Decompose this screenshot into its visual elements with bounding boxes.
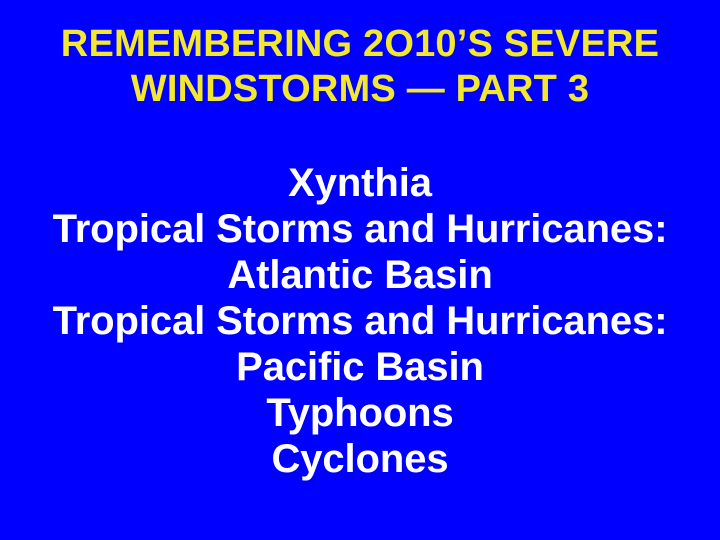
body-line-cyclones: Cyclones	[0, 436, 720, 482]
body-line-pacific-basin: Pacific Basin	[0, 344, 720, 390]
slide-canvas: REMEMBERING 2O10’S SEVERE WINDSTORMS — P…	[0, 0, 720, 540]
title-line-1: REMEMBERING 2O10’S SEVERE	[0, 22, 720, 67]
body-line-atlantic-basin: Atlantic Basin	[0, 252, 720, 298]
body-line-xynthia: Xynthia	[0, 160, 720, 206]
slide-body: Xynthia Tropical Storms and Hurricanes: …	[0, 160, 720, 482]
body-line-typhoons: Typhoons	[0, 390, 720, 436]
title-line-2: WINDSTORMS — PART 3	[0, 67, 720, 112]
slide-title: REMEMBERING 2O10’S SEVERE WINDSTORMS — P…	[0, 22, 720, 112]
body-line-tropical-storms-atlantic-heading: Tropical Storms and Hurricanes:	[0, 206, 720, 252]
body-line-tropical-storms-pacific-heading: Tropical Storms and Hurricanes:	[0, 298, 720, 344]
